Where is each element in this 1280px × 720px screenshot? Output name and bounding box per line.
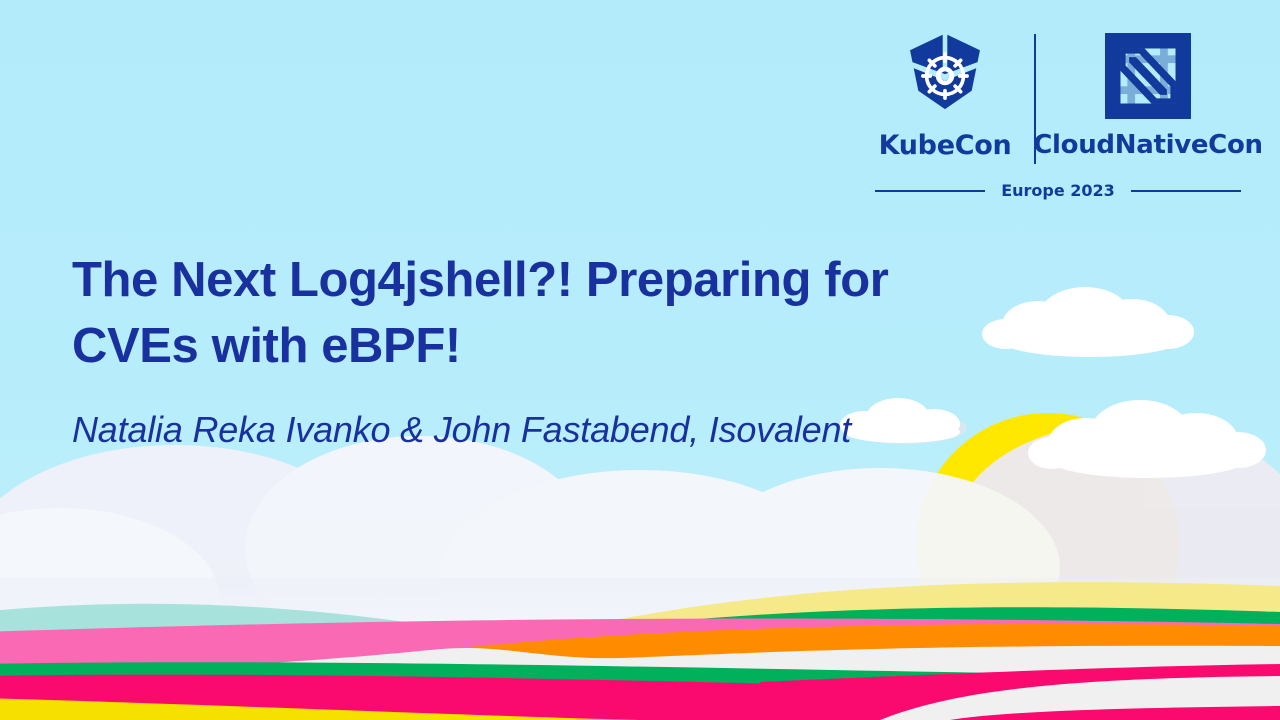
logo-row: KubeCon: [870, 28, 1246, 168]
slide-title: The Next Log4jshell?! Preparing for CVEs…: [72, 248, 1022, 379]
cloudnativecon-logo-group: CloudNativeCon: [1050, 28, 1246, 160]
cloudnativecon-square-icon: [1105, 28, 1191, 124]
event-edition-row: Europe 2023: [875, 181, 1241, 200]
slide-subtitle-speakers: Natalia Reka Ivanko & John Fastabend, Is…: [72, 408, 1022, 451]
cloudnativecon-wordmark: CloudNativeCon: [1033, 130, 1262, 160]
kubernetes-helm-wheel-icon: [899, 28, 991, 124]
presentation-slide: KubeCon: [0, 0, 1280, 720]
edition-rule-right: [1131, 190, 1241, 192]
edition-rule-left: [875, 190, 985, 192]
kubecon-wordmark: KubeCon: [879, 130, 1012, 161]
title-block: The Next Log4jshell?! Preparing for CVEs…: [72, 248, 1022, 452]
kubecon-logo-group: KubeCon: [870, 28, 1020, 161]
event-edition-label: Europe 2023: [985, 181, 1131, 200]
event-logo-lockup: KubeCon: [870, 28, 1246, 200]
cloud-mid-right: [1028, 400, 1266, 478]
